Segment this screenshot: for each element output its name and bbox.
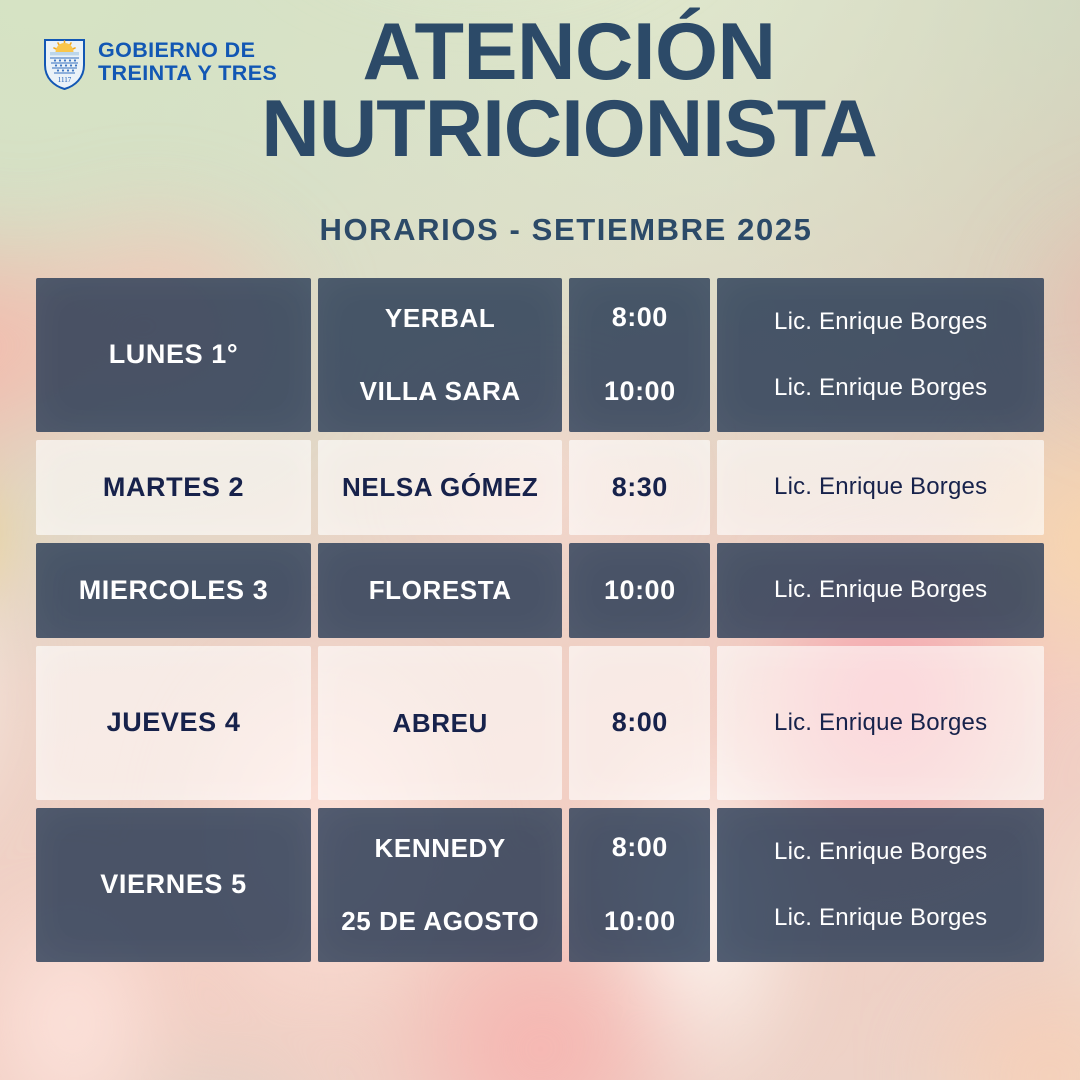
cell-time: 8:00 [569,646,710,800]
professional-label: Lic. Enrique Borges [774,474,987,500]
cell-day: MARTES 2 [36,440,311,535]
place-label: FLORESTA [369,576,512,605]
place-label: VILLA SARA [360,377,521,406]
cell-day: VIERNES 5 [36,808,311,962]
time-label: 8:00 [612,708,668,738]
cell-professional: Lic. Enrique Borges [717,646,1044,800]
cell-place: ABREU [318,646,562,800]
poster-canvas: 1117 GOBIERNO DE TREINTA Y TRES ATENCIÓN… [0,0,1080,1080]
cell-day: JUEVES 4 [36,646,311,800]
cell-day: MIERCOLES 3 [36,543,311,638]
cell-day: LUNES 1° [36,278,311,432]
page-title: ATENCIÓN NUTRICIONISTA [0,14,1080,168]
time-label: 8:00 [612,303,668,333]
cell-professional: Lic. Enrique Borges [717,543,1044,638]
place-label: ABREU [392,709,487,738]
cell-professional: Lic. Enrique Borges Lic. Enrique Borges [717,278,1044,432]
time-label: 10:00 [604,576,676,606]
time-label: 8:00 [612,833,668,863]
time-label: 8:30 [612,473,668,503]
poster-header: 1117 GOBIERNO DE TREINTA Y TRES ATENCIÓN… [0,0,1080,272]
place-label: 25 DE AGOSTO [341,907,539,936]
cell-place: NELSA GÓMEZ [318,440,562,535]
cell-place: YERBAL VILLA SARA [318,278,562,432]
cell-time: 8:30 [569,440,710,535]
table-row: JUEVES 4 ABREU 8:00 Lic. Enrique Borges [36,646,1044,800]
place-label: NELSA GÓMEZ [342,473,538,502]
cell-place: FLORESTA [318,543,562,638]
cell-time: 8:00 10:00 [569,808,710,962]
cell-place: KENNEDY 25 DE AGOSTO [318,808,562,962]
cell-professional: Lic. Enrique Borges Lic. Enrique Borges [717,808,1044,962]
day-label: LUNES 1° [109,340,239,370]
professional-label: Lic. Enrique Borges [774,375,987,401]
place-label: YERBAL [385,304,496,333]
cell-time: 8:00 10:00 [569,278,710,432]
professional-label: Lic. Enrique Borges [774,577,987,603]
table-row: MARTES 2 NELSA GÓMEZ 8:30 Lic. Enrique B… [36,440,1044,535]
title-line-2: NUTRICIONISTA [58,91,1080,168]
time-label: 10:00 [604,907,676,937]
professional-label: Lic. Enrique Borges [774,905,987,931]
day-label: MARTES 2 [103,473,244,503]
table-row: VIERNES 5 KENNEDY 25 DE AGOSTO 8:00 10:0… [36,808,1044,962]
schedule-table: LUNES 1° YERBAL VILLA SARA 8:00 10:00 Li… [36,278,1044,970]
cell-time: 10:00 [569,543,710,638]
table-row: MIERCOLES 3 FLORESTA 10:00 Lic. Enrique … [36,543,1044,638]
cell-professional: Lic. Enrique Borges [717,440,1044,535]
professional-label: Lic. Enrique Borges [774,710,987,736]
page-subtitle: HORARIOS - SETIEMBRE 2025 [0,212,1080,248]
table-row: LUNES 1° YERBAL VILLA SARA 8:00 10:00 Li… [36,278,1044,432]
professional-label: Lic. Enrique Borges [774,309,987,335]
place-label: KENNEDY [375,834,506,863]
title-line-1: ATENCIÓN [58,14,1080,91]
day-label: JUEVES 4 [107,708,241,738]
professional-label: Lic. Enrique Borges [774,839,987,865]
time-label: 10:00 [604,377,676,407]
day-label: VIERNES 5 [100,870,246,900]
day-label: MIERCOLES 3 [79,576,269,606]
